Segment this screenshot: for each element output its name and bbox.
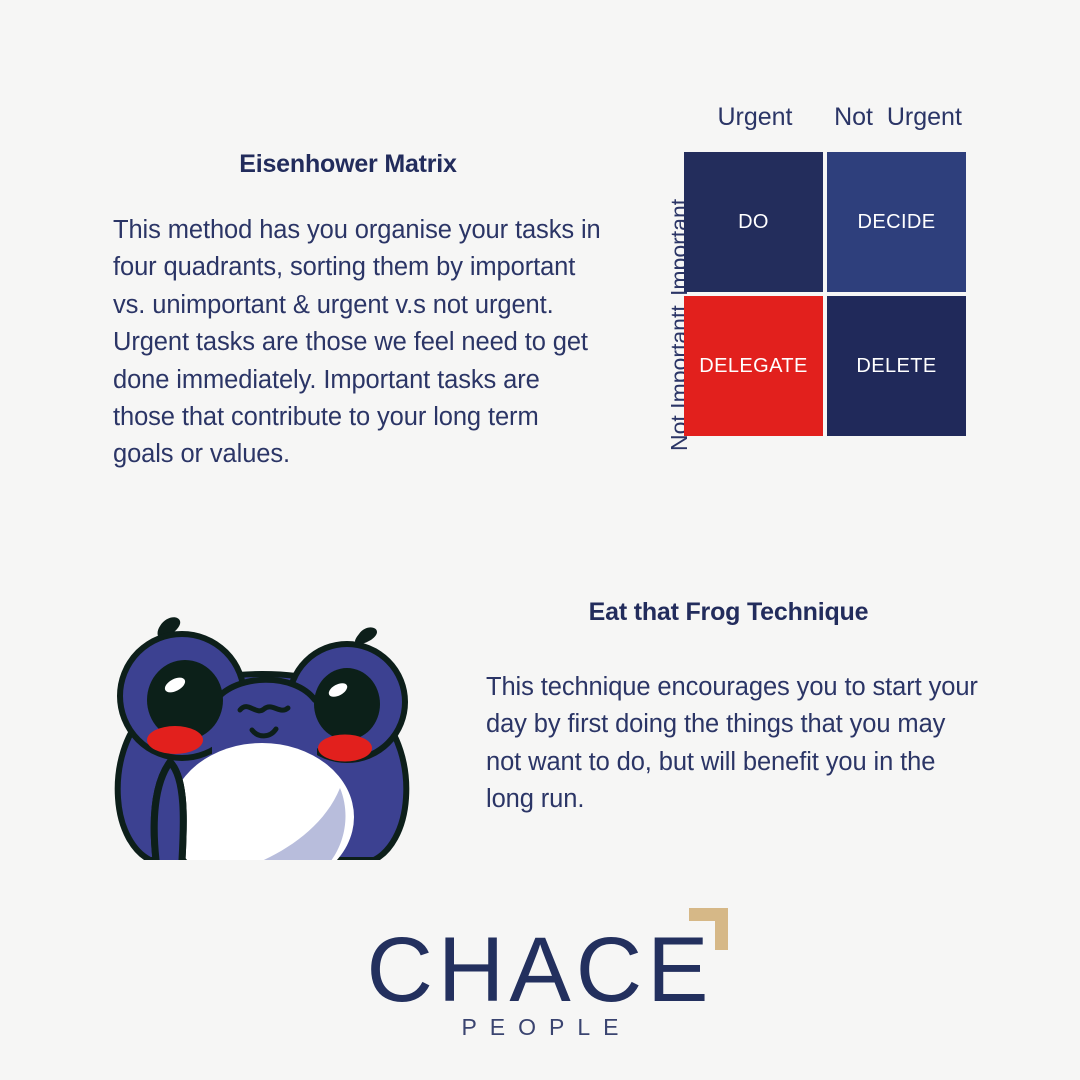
chace-people-logo: CHACE PEOPLE [0,896,1080,1056]
eat-that-frog-title: Eat that Frog Technique [486,598,971,627]
eisenhower-matrix-title: Eisenhower Matrix [113,150,583,179]
logo-wordmark: CHACE [0,924,1080,1016]
matrix-quadrant-delete: DELETE [827,296,966,436]
matrix-quadrant-delegate: DELEGATE [684,296,823,436]
eat-that-frog-description: This technique encourages you to start y… [486,669,978,819]
eisenhower-matrix-diagram: Urgent Not Urgent Important Not Importan… [640,103,980,448]
matrix-column-header-urgent: Urgent [684,103,826,132]
logo-subtext: PEOPLE [0,1014,1080,1041]
matrix-column-header-not-urgent: Not Urgent [826,103,970,132]
eisenhower-matrix-description: This method has you organise your tasks … [113,212,605,474]
matrix-quadrant-decide: DECIDE [827,152,966,292]
frog-illustration [112,612,412,860]
matrix-quadrant-do: DO [684,152,823,292]
matrix-quadrant-grid: DO DECIDE DELEGATE DELETE [684,152,966,436]
